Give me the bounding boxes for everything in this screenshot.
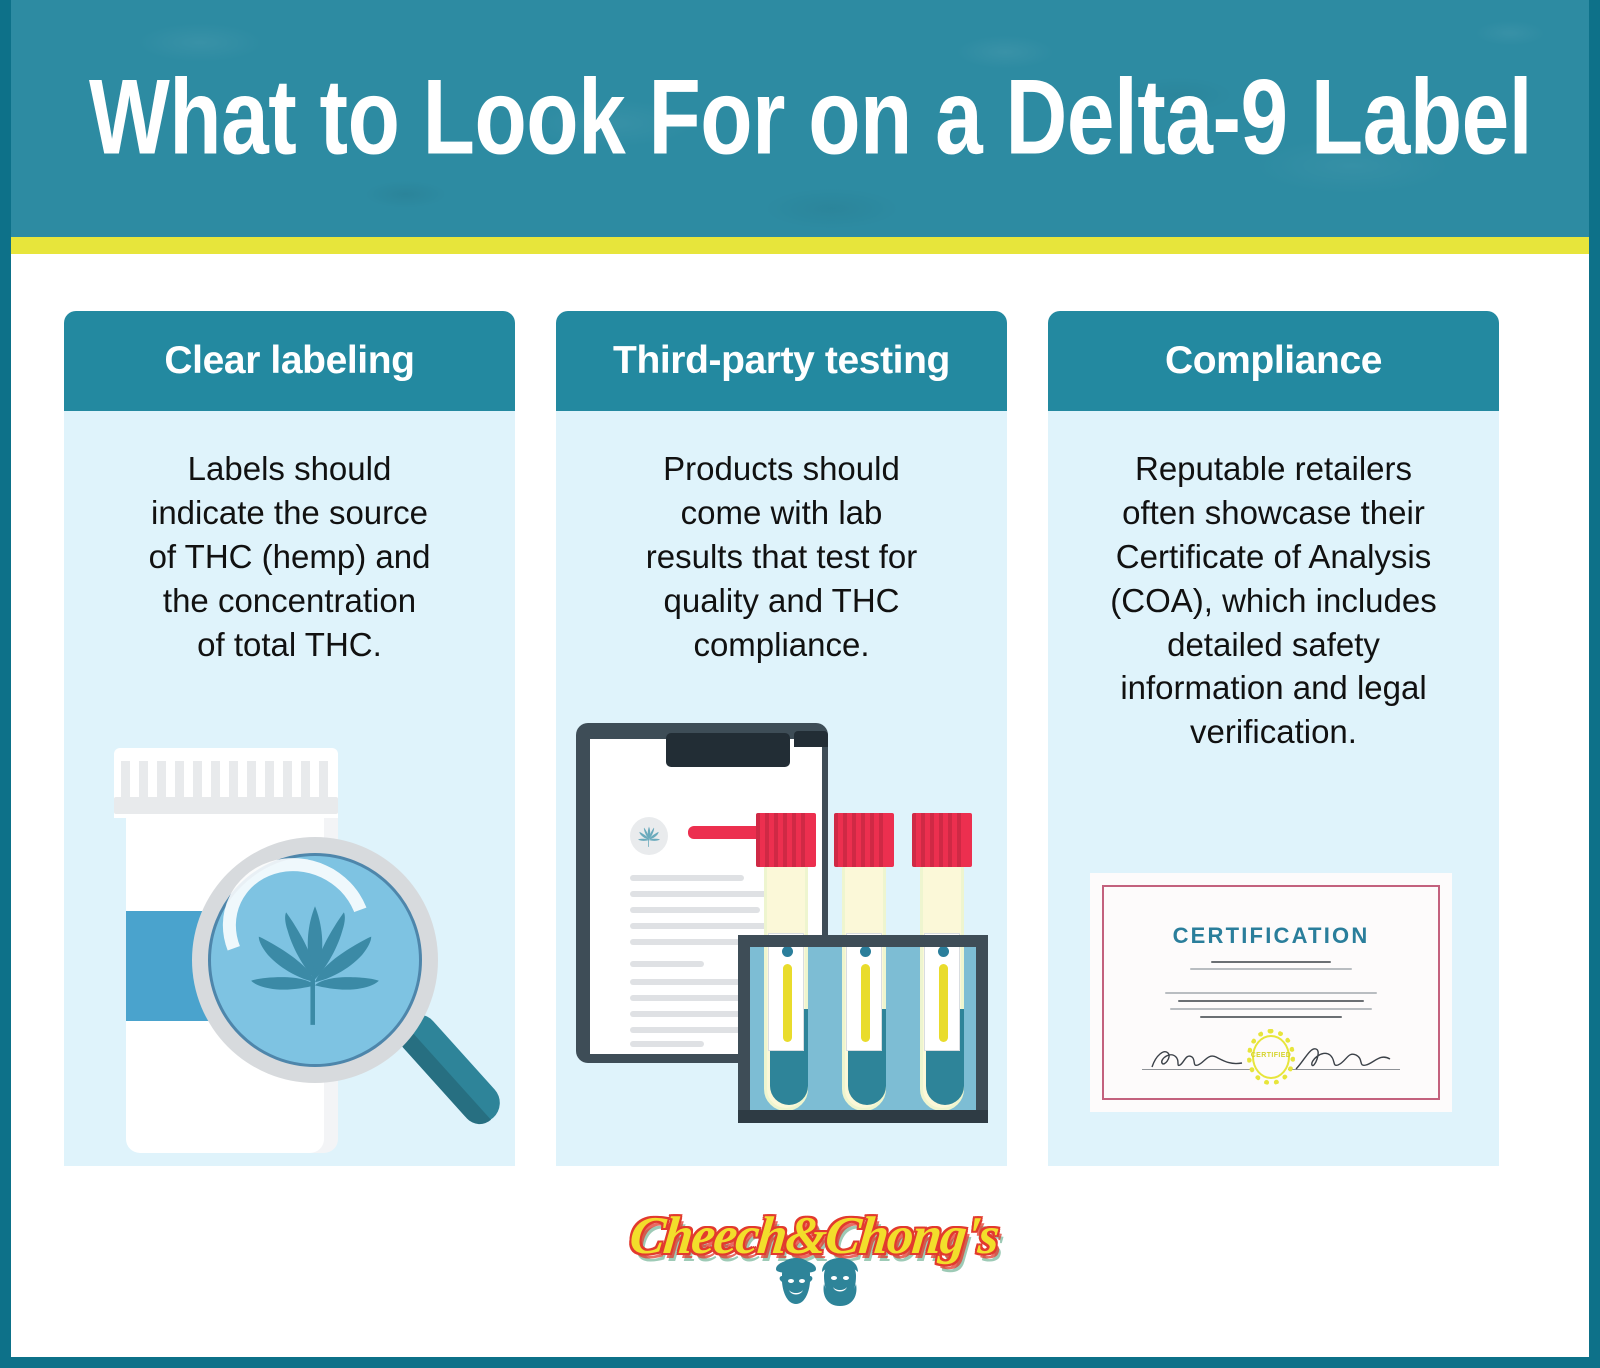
certificate-text-line [1200, 1016, 1342, 1018]
test-tube-label [924, 933, 960, 1051]
page-title: What to Look For on a Delta-9 Label [89, 64, 1532, 171]
test-tube-cap [834, 813, 894, 867]
infographic-page: What to Look For on a Delta-9 Label Clea… [0, 0, 1600, 1368]
document-line [630, 875, 744, 881]
certificate-text-line [1165, 992, 1377, 994]
pill-bottle-magnifier-illustration [64, 721, 515, 1166]
document-line [630, 923, 778, 929]
certificate-text-line [1178, 1000, 1364, 1002]
test-tube-icon [842, 861, 886, 1111]
cheech-and-chong-faces-icon [774, 1256, 866, 1308]
signature-right [1292, 1043, 1396, 1075]
signature-left [1146, 1043, 1250, 1075]
rack-top-bar [738, 935, 988, 947]
rack-leg [738, 941, 750, 1113]
card-description: Reputable retailers often showcase their… [1064, 447, 1483, 754]
card-body-compliance: Reputable retailers often showcase their… [1048, 411, 1499, 1166]
document-line [630, 961, 704, 967]
test-tube-label [846, 933, 882, 1051]
clipboard-clip-knob [794, 731, 828, 747]
document-line [630, 907, 760, 913]
test-tube-cap [756, 813, 816, 867]
certificate-text-line [1190, 968, 1352, 970]
card-title: Third-party testing [613, 339, 950, 383]
card-header-third-party-testing: Third-party testing [556, 311, 1007, 411]
document-line [630, 939, 748, 945]
seal-label: CERTIFIED [1247, 1052, 1295, 1059]
card-description: Products should come with lab results th… [572, 447, 991, 666]
clipboard-test-tubes-illustration: ✔ ✔ [556, 701, 1007, 1166]
card-title: Compliance [1165, 339, 1382, 383]
document-line [630, 995, 750, 1001]
pill-bottle-cap-ribs [121, 761, 331, 799]
clipboard-clip [666, 733, 790, 767]
test-tube-icon [920, 861, 964, 1111]
card-body-third-party-testing: Products should come with lab results th… [556, 411, 1007, 1166]
card-header-compliance: Compliance [1048, 311, 1499, 411]
test-tube-label [768, 933, 804, 1051]
cannabis-leaf-icon [630, 817, 668, 855]
header-banner: What to Look For on a Delta-9 Label [11, 0, 1589, 237]
certificate-illustration: CERTIFICATION [1048, 873, 1499, 1166]
card-third-party-testing: Third-party testing Products should come… [556, 311, 1007, 1166]
certificate-text-line [1211, 961, 1331, 963]
document-line [630, 1041, 704, 1047]
magnifying-glass-icon [192, 837, 438, 1083]
header-divider [11, 237, 1589, 254]
certificate-document: CERTIFICATION [1090, 873, 1452, 1112]
rack-base [738, 1110, 988, 1123]
card-description: Labels should indicate the source of THC… [80, 447, 499, 666]
test-tube-icon [764, 861, 808, 1111]
card-clear-labeling: Clear labeling Labels should indicate th… [64, 311, 515, 1166]
card-title: Clear labeling [164, 339, 414, 383]
card-compliance: Compliance Reputable retailers often sho… [1048, 311, 1499, 1166]
cards-row: Clear labeling Labels should indicate th… [64, 311, 1544, 1166]
test-tube-cap [912, 813, 972, 867]
document-line [630, 891, 772, 897]
certificate-title: CERTIFICATION [1090, 923, 1452, 949]
rack-leg [976, 941, 988, 1113]
certified-seal: CERTIFIED [1247, 1029, 1295, 1085]
certificate-text-line [1170, 1008, 1372, 1010]
card-body-clear-labeling: Labels should indicate the source of THC… [64, 411, 515, 1166]
card-header-clear-labeling: Clear labeling [64, 311, 515, 411]
brand-logo[interactable]: Cheech&Chong's [11, 1190, 1589, 1320]
pill-bottle-cap-lip [114, 797, 338, 814]
